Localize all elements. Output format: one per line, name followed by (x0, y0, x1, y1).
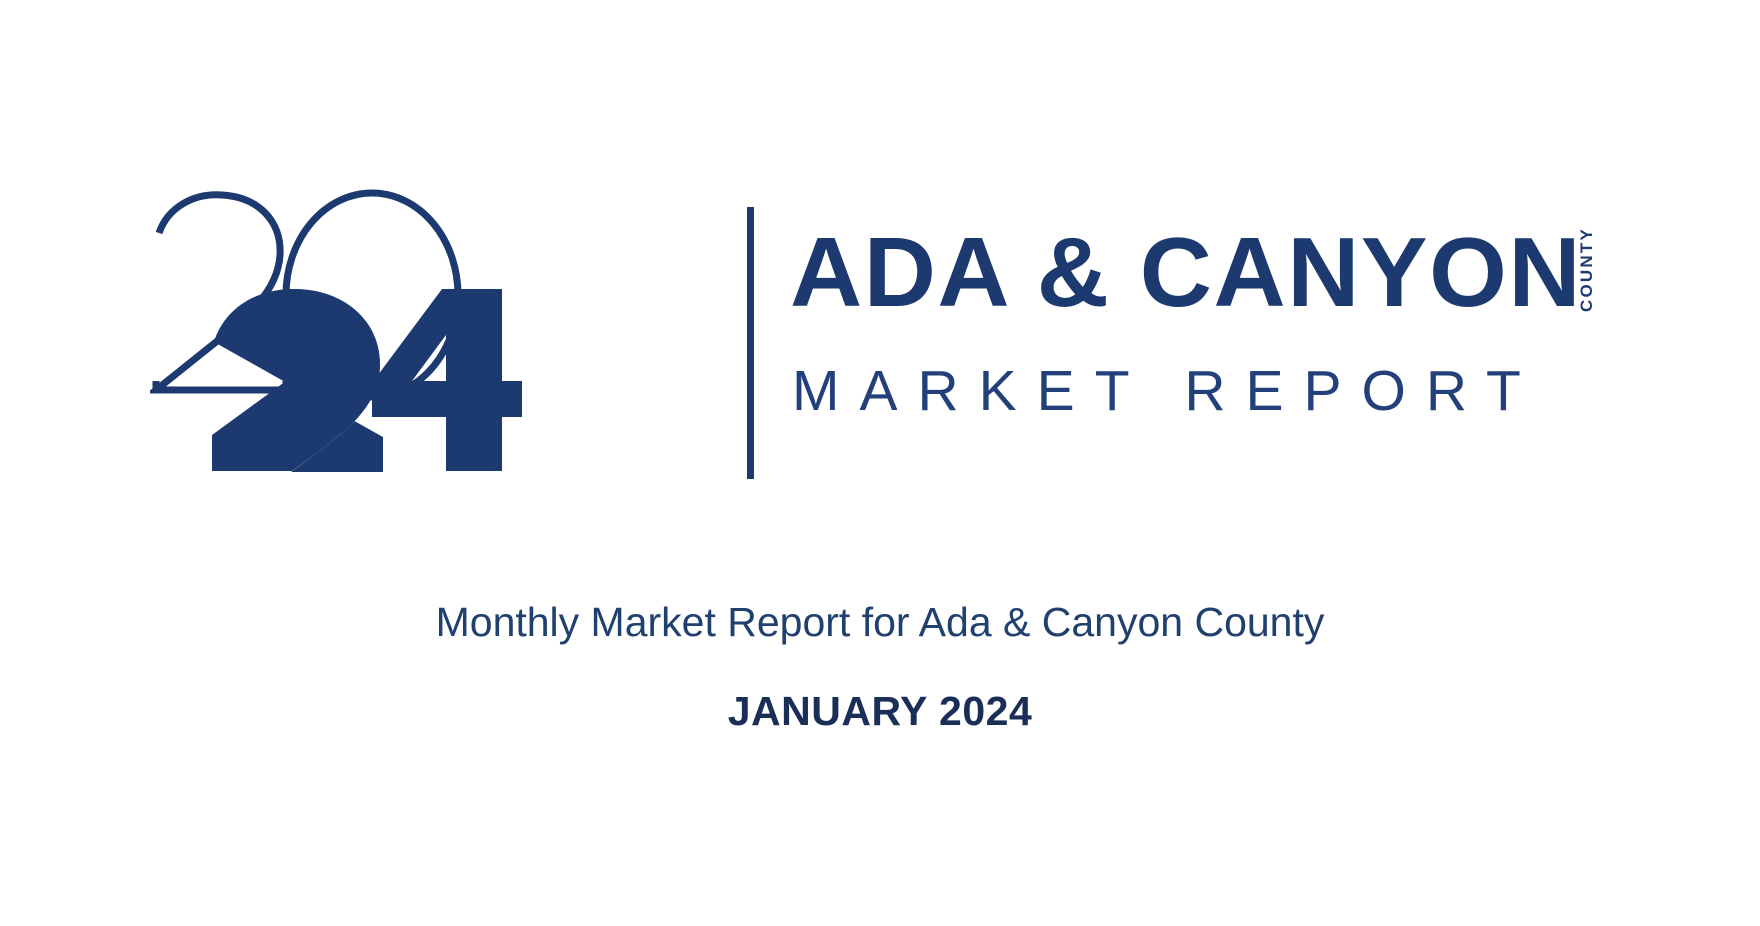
wordmark-ada-canyon: ADA & CANYON (790, 223, 1582, 321)
report-month-title: JANUARY 2024 (0, 689, 1760, 734)
cover-caption-block: Monthly Market Report for Ada & Canyon C… (0, 600, 1760, 734)
year-2024-icon (150, 185, 570, 485)
wordmark-county-superscript: COUNTY (1577, 227, 1597, 312)
report-subtitle: Monthly Market Report for Ada & Canyon C… (0, 600, 1760, 645)
wordmark-market-report: MARKET REPORT (792, 363, 1541, 420)
logo-divider-rule (747, 207, 754, 479)
brand-logo-lockup: ADA & CANYON COUNTY MARKET REPORT (150, 185, 1610, 485)
logo-wordmark-group: ADA & CANYON COUNTY MARKET REPORT (790, 185, 1610, 485)
year-2024-mark (150, 185, 570, 485)
report-cover-page: ADA & CANYON COUNTY MARKET REPORT Monthl… (0, 0, 1760, 926)
wordmark-primary-row: ADA & CANYON COUNTY (790, 223, 1597, 321)
